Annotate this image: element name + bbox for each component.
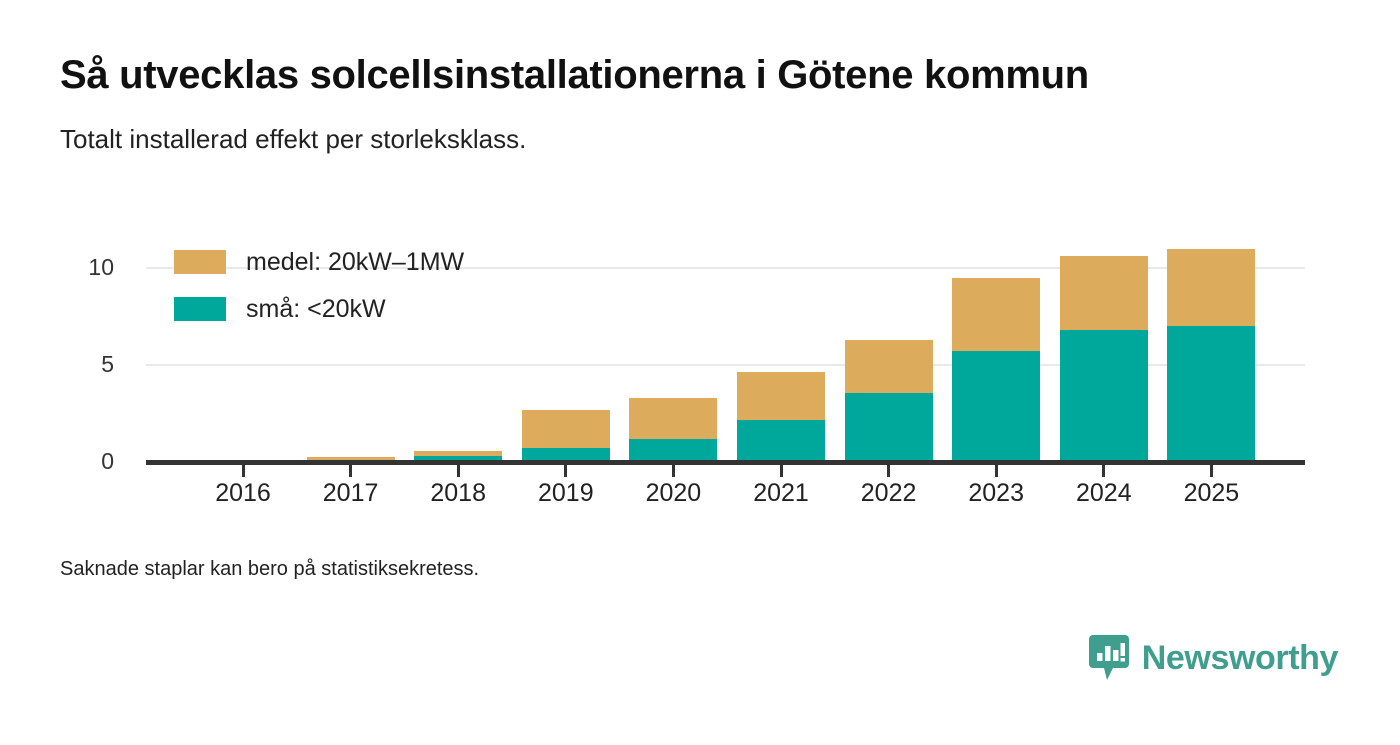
x-tick-2016 (242, 465, 245, 477)
y-tick-label-0: 0 (34, 450, 114, 473)
y-tick-label-5: 5 (34, 353, 114, 376)
x-tick-2025 (1210, 465, 1213, 477)
x-tick-2019 (564, 465, 567, 477)
newsworthy-bars-bubble-icon (1088, 634, 1130, 682)
bar-column-2020[interactable] (629, 398, 717, 462)
bar-column-2021[interactable] (737, 372, 825, 462)
y-tick-label-10: 10 (34, 256, 114, 279)
bar-segment-sma-2021[interactable] (737, 420, 825, 462)
x-tick-2017 (349, 465, 352, 477)
x-tick-label-2017: 2017 (291, 479, 411, 508)
bar-column-2025[interactable] (1167, 249, 1255, 462)
bar-segment-sma-2025[interactable] (1167, 326, 1255, 462)
bar-segment-medel-2025[interactable] (1167, 249, 1255, 327)
x-tick-label-2021: 2021 (721, 479, 841, 508)
legend-swatch-medel-icon (174, 250, 226, 274)
x-tick-2018 (457, 465, 460, 477)
x-tick-label-2022: 2022 (829, 479, 949, 508)
x-tick-2021 (780, 465, 783, 477)
legend-swatch-sma-icon (174, 297, 226, 321)
chart-footnote: Saknade staplar kan bero på statistiksek… (60, 558, 479, 581)
x-tick-label-2023: 2023 (936, 479, 1056, 508)
bar-segment-medel-2019[interactable] (522, 410, 610, 449)
bar-segment-sma-2020[interactable] (629, 439, 717, 462)
bar-column-2022[interactable] (845, 340, 933, 462)
chart-legend: medel: 20kW–1MW små: <20kW (174, 243, 464, 337)
legend-label-medel: medel: 20kW–1MW (246, 248, 464, 277)
bar-column-2019[interactable] (522, 410, 610, 462)
x-tick-label-2024: 2024 (1044, 479, 1164, 508)
x-tick-2020 (672, 465, 675, 477)
bar-column-2024[interactable] (1060, 256, 1148, 462)
x-tick-2022 (887, 465, 890, 477)
newsworthy-logo[interactable]: Newsworthy (1088, 634, 1338, 682)
bar-segment-sma-2024[interactable] (1060, 330, 1148, 462)
newsworthy-logo-text: Newsworthy (1142, 639, 1338, 678)
legend-label-sma: små: <20kW (246, 295, 386, 324)
bar-segment-medel-2022[interactable] (845, 340, 933, 393)
bar-segment-medel-2020[interactable] (629, 398, 717, 439)
bar-segment-medel-2021[interactable] (737, 372, 825, 421)
x-tick-label-2025: 2025 (1151, 479, 1271, 508)
bar-column-2023[interactable] (952, 278, 1040, 462)
bar-segment-medel-2024[interactable] (1060, 256, 1148, 330)
bar-segment-sma-2023[interactable] (952, 351, 1040, 462)
x-tick-2023 (995, 465, 998, 477)
x-axis-line (146, 460, 1305, 465)
legend-item-sma[interactable]: små: <20kW (174, 290, 464, 328)
x-tick-2024 (1102, 465, 1105, 477)
x-tick-label-2019: 2019 (506, 479, 626, 508)
x-tick-label-2020: 2020 (613, 479, 733, 508)
bar-segment-medel-2023[interactable] (952, 278, 1040, 352)
x-tick-label-2016: 2016 (183, 479, 303, 508)
bar-segment-sma-2022[interactable] (845, 393, 933, 462)
x-tick-label-2018: 2018 (398, 479, 518, 508)
legend-item-medel[interactable]: medel: 20kW–1MW (174, 243, 464, 281)
